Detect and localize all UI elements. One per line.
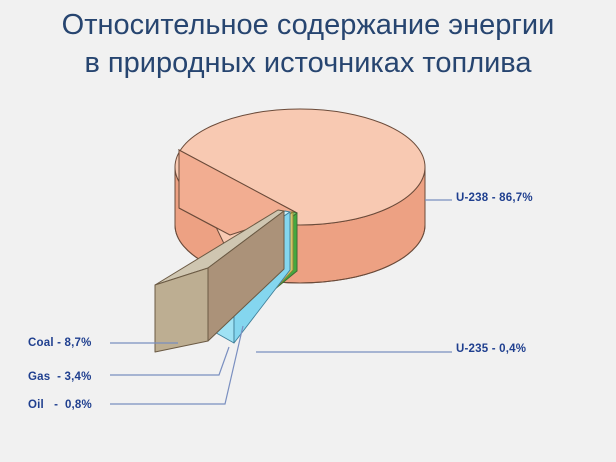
callout-label-oil: Oil - 0,8% bbox=[28, 399, 92, 411]
leader-line-gas bbox=[110, 347, 229, 375]
callout-label-coal: Coal - 8,7% bbox=[28, 337, 92, 349]
slide-canvas: Относительное содержание энергии в приро… bbox=[0, 0, 616, 462]
callout-label-u235: U-235 - 0,4% bbox=[456, 343, 526, 355]
pie-chart-3d bbox=[0, 0, 616, 462]
callout-label-gas: Gas - 3,4% bbox=[28, 371, 92, 383]
callout-label-u238: U-238 - 86,7% bbox=[456, 192, 533, 204]
